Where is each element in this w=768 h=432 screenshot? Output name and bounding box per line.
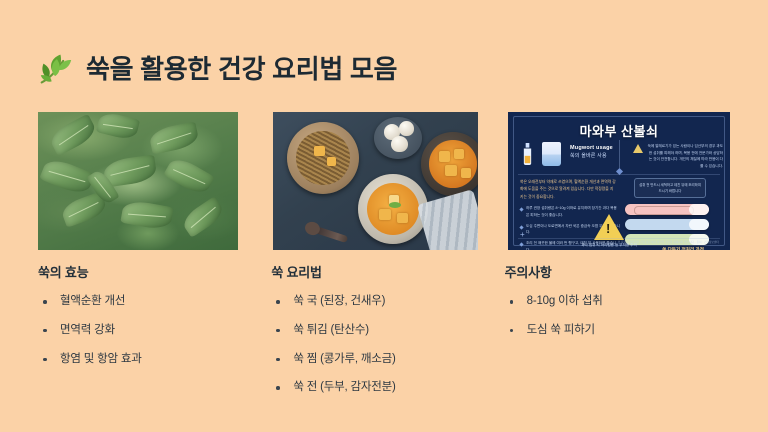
garlic-plate: [374, 117, 422, 159]
content-columns: 쑥의 효능 혈액순환 개선 면역력 강화 항염 및 항암 효과 쑥 요리법 쑥 …: [38, 262, 738, 410]
usage-label: Mugwort usage 쑥의 올바른 사용: [570, 144, 613, 160]
warning-header-text: 쑥에 알레르기가 있는 사람이나 임산부의 경우 과도한 섭취를 피해야 하며,…: [647, 143, 723, 170]
divider-top: [518, 174, 720, 175]
vertical-divider: [619, 140, 620, 168]
recipes-list: 쑥 국 (된장, 건새우) 쑥 튀김 (탄산수) 쑥 찜 (콩가루, 깨소금) …: [271, 295, 504, 395]
noodle-bowl: [287, 122, 359, 194]
leaf-sprig-icon: [38, 52, 74, 86]
spoon-icon: [314, 226, 348, 243]
bar-cap: [689, 219, 709, 230]
list-item: 8-10g 이하 섭취: [505, 295, 738, 309]
slide-canvas: 쑥을 활용한 건강 요리법 모음: [0, 0, 768, 432]
column-cautions: 주의사항 8-10g 이하 섭취 도심 쑥 피하기: [505, 262, 738, 410]
bar-cap: [689, 204, 709, 215]
warning-triangle-icon: [594, 214, 624, 240]
column-recipes: 쑥 요리법 쑥 국 (된장, 건새우) 쑥 튀김 (탄산수) 쑥 찜 (콩가루,…: [271, 262, 504, 410]
infographic-callout: 섭취 전 반드시 세척하고 데친 뒤에 조리하여 드시기 바랍니다: [634, 178, 706, 198]
infographic-footnote: 본 자료는 일반적인 건강 정보이며 의학적 조언을 대체하지 않습니다 · 출…: [618, 240, 719, 244]
list-item: 면역력 강화: [38, 324, 271, 338]
column-heading: 쑥의 효능: [38, 262, 271, 281]
list-item: 쑥 튀김 (탄산수): [271, 324, 504, 338]
column-heading: 쑥 요리법: [271, 262, 504, 281]
infographic-paragraph: 쑥은 오래전부터 약재로 쓰였으며, 혈액순환 개선과 면역력 강화에 도움을 …: [520, 179, 616, 201]
list-item: 도심 쑥 피하기: [505, 324, 738, 338]
list-item: 쑥 국 (된장, 건새우): [271, 295, 504, 309]
process-bar: [625, 204, 709, 215]
divider-bottom: [518, 238, 720, 239]
process-bar: [625, 219, 709, 230]
plant-photo-surface: [38, 112, 238, 250]
mugwort-plant-photo: [38, 112, 238, 250]
slide-header: 쑥을 활용한 건강 요리법 모음: [38, 46, 397, 92]
bar-plate: [634, 206, 694, 215]
infographic-surface: 마와부 산볼쇠 Mugwort usage 쑥의 올바른 사용 쑥에 알레르기가…: [508, 112, 730, 250]
list-item: 항염 및 항암 효과: [38, 353, 271, 367]
page-title: 쑥을 활용한 건강 요리법 모음: [86, 56, 397, 82]
bars-caption: 쑥 다듬기 전처리 과정: [648, 246, 718, 250]
usage-label-kr: 쑥의 올바른 사용: [570, 153, 607, 159]
list-item: 쑥 찜 (콩가루, 깨소금): [271, 353, 504, 367]
stew-pot: [421, 132, 478, 196]
mugwort-dishes-photo: [273, 112, 478, 250]
bottle-icon: [521, 143, 534, 165]
list-item: 쑥 전 (두부, 감자전분): [271, 381, 504, 395]
cautions-list: 8-10g 이하 섭취 도심 쑥 피하기: [505, 295, 738, 338]
infographic-title: 마와부 산볼쇠: [508, 121, 730, 140]
benefits-list: 혈액순환 개선 면역력 강화 항염 및 항암 효과: [38, 295, 271, 366]
column-benefits: 쑥의 효능 혈액순환 개선 면역력 강화 항염 및 항암 효과: [38, 262, 271, 410]
column-heading: 주의사항: [505, 262, 738, 281]
media-row: 마와부 산볼쇠 Mugwort usage 쑥의 올바른 사용 쑥에 알레르기가…: [38, 112, 730, 250]
food-photo-surface: [273, 112, 478, 250]
cup-icon: [542, 142, 561, 166]
mugwort-infographic: 마와부 산볼쇠 Mugwort usage 쑥의 올바른 사용 쑥에 알레르기가…: [508, 112, 730, 250]
list-item: 혈액순환 개선: [38, 295, 271, 309]
warning-triangle-small-icon: [633, 144, 643, 153]
usage-label-en: Mugwort usage: [570, 145, 613, 151]
